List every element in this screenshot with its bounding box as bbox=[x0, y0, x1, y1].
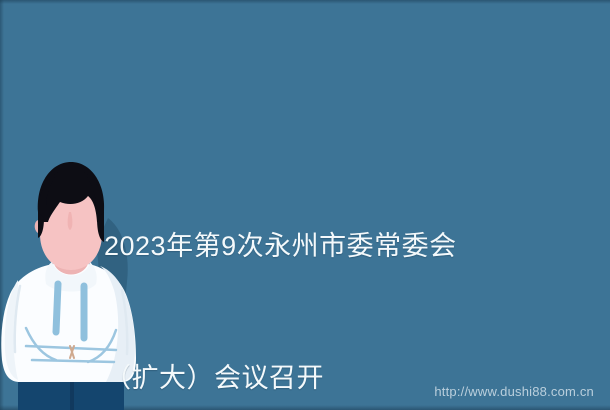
title-line-1: 2023年第9次永州市委常委会 bbox=[104, 224, 574, 268]
source-watermark: http://www.dushi88.com.cn bbox=[434, 384, 594, 399]
page-title: 2023年第9次永州市委常委会 （扩大）会议召开 bbox=[104, 136, 574, 410]
image-canvas: 2023年第9次永州市委常委会 （扩大）会议召开 http://www.dush… bbox=[0, 0, 610, 410]
top-edge-shade bbox=[0, 0, 610, 4]
